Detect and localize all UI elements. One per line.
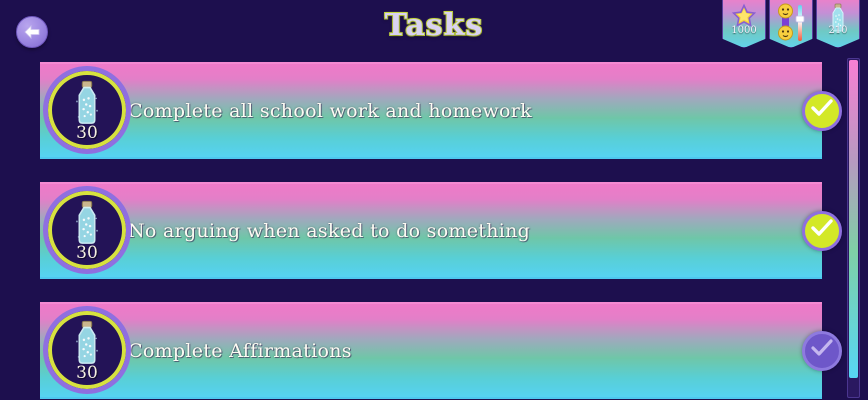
task-list: Complete all school work and homework [0, 58, 868, 400]
task-row[interactable]: No arguing when asked to do something [0, 178, 868, 283]
task-label: Complete all school work and homework [128, 100, 748, 122]
check-icon [811, 339, 833, 362]
check-icon [811, 219, 833, 242]
stars-value: 1000 [723, 25, 765, 36]
gems-value: 210 [817, 25, 859, 36]
task-row[interactable]: Complete Affirmations [0, 298, 868, 400]
task-reward-token[interactable]: 30 [43, 66, 131, 154]
task-label: Complete Affirmations [128, 340, 748, 362]
task-check-button[interactable] [802, 331, 842, 371]
mood-badge[interactable] [769, 0, 813, 48]
tasks-screen: Tasks 1000 [0, 0, 868, 400]
scrollbar-thumb[interactable] [849, 60, 858, 378]
gems-badge[interactable]: 210 [816, 0, 860, 48]
task-row[interactable]: Complete all school work and homework [0, 58, 868, 163]
task-reward-token[interactable]: 30 [43, 186, 131, 274]
task-reward-value: 30 [48, 123, 126, 143]
task-reward-value: 30 [48, 243, 126, 263]
task-label: No arguing when asked to do something [128, 220, 748, 242]
mood-icon [773, 3, 809, 48]
task-reward-value: 30 [48, 363, 126, 383]
task-check-button[interactable] [802, 91, 842, 131]
task-reward-token[interactable]: 30 [43, 306, 131, 394]
vertical-scrollbar[interactable] [847, 58, 860, 398]
check-icon [811, 99, 833, 122]
top-bar: Tasks 1000 [0, 0, 868, 58]
stars-badge[interactable]: 1000 [722, 0, 766, 48]
task-check-button[interactable] [802, 211, 842, 251]
